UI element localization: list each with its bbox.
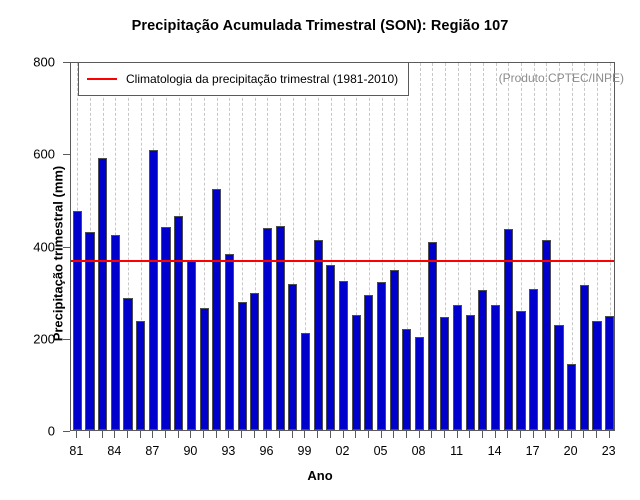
x-tick-mark: [140, 431, 141, 438]
y-tick-label: 600: [15, 147, 55, 162]
chart-title: Precipitação Acumulada Trimestral (SON):…: [0, 18, 640, 34]
bar: [301, 333, 310, 430]
bar: [428, 242, 437, 430]
x-tick-mark: [89, 431, 90, 438]
x-tick-mark: [127, 431, 128, 438]
bar: [478, 290, 487, 430]
bar: [149, 150, 158, 430]
y-axis-label: Precipitação trimestral (mm): [51, 104, 66, 404]
x-tick-mark: [114, 431, 115, 438]
x-tick-mark: [266, 431, 267, 438]
bar: [352, 315, 361, 430]
bar: [339, 281, 348, 430]
x-tick-mark: [393, 431, 394, 438]
bar: [276, 226, 285, 430]
y-tick-label: 0: [15, 424, 55, 439]
x-tick-mark: [457, 431, 458, 438]
legend: Climatologia da precipitação trimestral …: [78, 62, 409, 96]
x-tick-mark: [558, 431, 559, 438]
bar: [453, 305, 462, 430]
x-tick-mark: [507, 431, 508, 438]
precipitation-bar-chart: Precipitação Acumulada Trimestral (SON):…: [0, 0, 640, 500]
x-tick-mark: [76, 431, 77, 438]
bar: [567, 364, 576, 430]
bar: [212, 189, 221, 430]
x-tick-label: 93: [221, 444, 235, 458]
x-tick-mark: [609, 431, 610, 438]
y-tick-label: 200: [15, 331, 55, 346]
x-tick-label: 81: [69, 444, 83, 458]
bar: [225, 254, 234, 430]
x-tick-mark: [165, 431, 166, 438]
bar: [491, 305, 500, 430]
bar: [364, 295, 373, 430]
bar: [187, 261, 196, 430]
bar: [200, 308, 209, 430]
bar: [111, 235, 120, 430]
x-tick-label: 08: [412, 444, 426, 458]
x-tick-mark: [190, 431, 191, 438]
x-tick-mark: [241, 431, 242, 438]
bar: [440, 317, 449, 430]
bar: [529, 289, 538, 430]
bar: [402, 329, 411, 430]
bar: [161, 227, 170, 430]
x-tick-mark: [203, 431, 204, 438]
climatology-line: [71, 260, 614, 262]
y-tick-mark: [63, 431, 70, 432]
x-tick-label: 11: [450, 444, 463, 458]
x-tick-mark: [583, 431, 584, 438]
bar: [554, 325, 563, 430]
x-tick-label: 20: [564, 444, 578, 458]
bar: [466, 315, 475, 430]
y-tick-mark: [63, 62, 70, 63]
x-tick-mark: [482, 431, 483, 438]
legend-line-swatch: [87, 78, 117, 80]
x-tick-label: 90: [183, 444, 197, 458]
x-tick-mark: [596, 431, 597, 438]
bar: [73, 211, 82, 430]
x-tick-mark: [279, 431, 280, 438]
x-tick-mark: [355, 431, 356, 438]
x-tick-mark: [216, 431, 217, 438]
bar: [238, 302, 247, 430]
bar: [263, 228, 272, 430]
x-tick-label: 14: [488, 444, 502, 458]
bar: [605, 316, 614, 430]
bar: [98, 158, 107, 430]
x-tick-mark: [520, 431, 521, 438]
x-tick-mark: [545, 431, 546, 438]
x-tick-mark: [368, 431, 369, 438]
x-tick-label: 87: [145, 444, 159, 458]
bar: [174, 216, 183, 430]
bar: [377, 282, 386, 430]
x-tick-mark: [102, 431, 103, 438]
x-tick-mark: [330, 431, 331, 438]
bar: [288, 284, 297, 430]
plot-area: [70, 62, 615, 431]
x-tick-label: 02: [336, 444, 350, 458]
bar: [136, 321, 145, 430]
bar: [123, 298, 132, 430]
bar: [415, 337, 424, 430]
x-tick-mark: [406, 431, 407, 438]
x-tick-mark: [419, 431, 420, 438]
x-tick-mark: [444, 431, 445, 438]
bar: [390, 270, 399, 431]
x-tick-mark: [304, 431, 305, 438]
source-credit: (Produto:CPTEC/INPE): [499, 71, 624, 85]
x-axis-label: Ano: [0, 468, 640, 483]
y-tick-label: 400: [15, 239, 55, 254]
y-tick-label: 800: [15, 55, 55, 70]
x-tick-mark: [254, 431, 255, 438]
x-tick-mark: [317, 431, 318, 438]
x-tick-label: 23: [602, 444, 616, 458]
x-tick-mark: [571, 431, 572, 438]
bar: [580, 285, 589, 430]
legend-label: Climatologia da precipitação trimestral …: [126, 72, 398, 86]
bar: [250, 293, 259, 430]
x-tick-label: 99: [298, 444, 312, 458]
x-tick-mark: [228, 431, 229, 438]
x-tick-label: 05: [374, 444, 388, 458]
x-tick-label: 96: [260, 444, 274, 458]
bar: [516, 311, 525, 430]
x-tick-mark: [178, 431, 179, 438]
x-tick-label: 17: [526, 444, 540, 458]
x-tick-mark: [292, 431, 293, 438]
x-tick-label: 84: [107, 444, 121, 458]
bar: [592, 321, 601, 430]
bar: [326, 265, 335, 430]
x-tick-mark: [495, 431, 496, 438]
x-tick-mark: [152, 431, 153, 438]
bar: [542, 240, 551, 430]
x-tick-mark: [533, 431, 534, 438]
bar: [314, 240, 323, 430]
x-tick-mark: [431, 431, 432, 438]
x-tick-mark: [381, 431, 382, 438]
x-tick-mark: [469, 431, 470, 438]
x-tick-mark: [343, 431, 344, 438]
